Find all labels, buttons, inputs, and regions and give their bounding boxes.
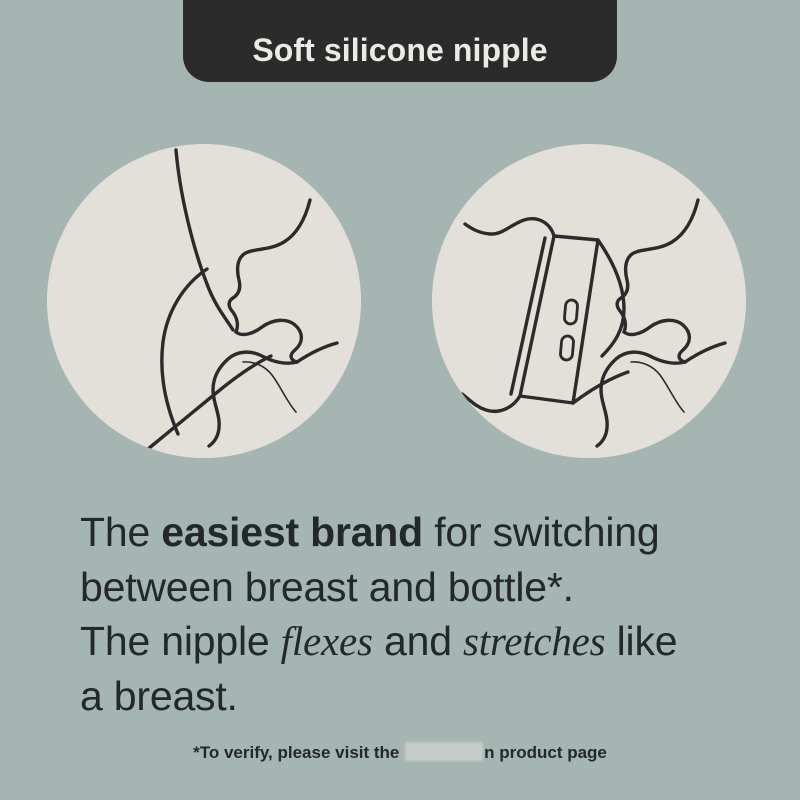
body-line-4: a breast.	[80, 669, 740, 724]
body-emphasis-stretches: stretches	[463, 618, 605, 664]
illustration-baby-bottle-feeding	[432, 144, 746, 458]
body-copy: The easiest brand for switching between …	[80, 505, 740, 723]
body-line-3-prefix: The nipple	[80, 618, 281, 664]
body-line-1-suffix: for switching	[423, 509, 659, 555]
header-banner: Soft silicone nipple	[183, 0, 617, 82]
footnote-suffix: n product page	[484, 743, 607, 762]
footnote-prefix: *To verify, please visit the	[193, 743, 404, 762]
body-line-3: The nipple flexes and stretches like	[80, 614, 740, 669]
body-line-3-middle: and	[373, 618, 463, 664]
body-line-1: The easiest brand for switching	[80, 505, 740, 560]
body-line-3-suffix: like	[605, 618, 677, 664]
body-line-1-bold: easiest brand	[161, 509, 423, 555]
body-line-2: between breast and bottle*.	[80, 560, 740, 615]
body-line-1-prefix: The	[80, 509, 161, 555]
illustration-row	[0, 144, 800, 460]
redacted-brand-name	[405, 742, 483, 761]
footnote: *To verify, please visit the n product p…	[0, 742, 800, 763]
body-emphasis-flexes: flexes	[281, 618, 373, 664]
illustration-baby-breastfeeding	[47, 144, 361, 458]
baby-bottle-feeding-icon	[432, 144, 746, 458]
product-infographic: Soft silicone nipple	[0, 0, 800, 800]
baby-breastfeeding-icon	[47, 144, 361, 458]
page-title: Soft silicone nipple	[252, 34, 547, 66]
